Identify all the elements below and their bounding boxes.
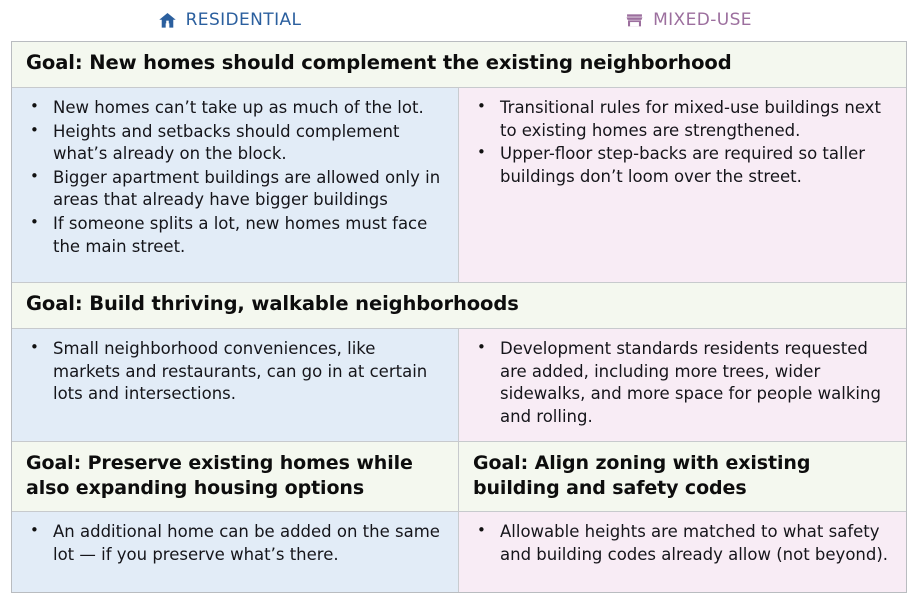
content-cell-residential: New homes can’t take up as much of the l…: [12, 88, 459, 282]
bullet-list: An additional home can be added on the s…: [22, 521, 442, 566]
column-headers: RESIDENTIAL MIXED-USE: [0, 0, 918, 40]
column-header-residential-label: RESIDENTIAL: [186, 10, 302, 30]
list-item: Small neighborhood conveniences, like ma…: [22, 338, 442, 406]
goal-cell-mixeduse: Goal: Align zoning with existing buildin…: [459, 442, 906, 511]
content-cell-residential: Small neighborhood conveniences, like ma…: [12, 329, 459, 441]
goal-title: Goal: Align zoning with existing buildin…: [473, 451, 892, 500]
list-item: New homes can’t take up as much of the l…: [22, 97, 442, 120]
goal-cell: Goal: New homes should complement the ex…: [12, 42, 906, 87]
list-item: Allowable heights are matched to what sa…: [469, 521, 890, 566]
content-cell-mixeduse: Allowable heights are matched to what sa…: [459, 512, 906, 592]
bullet-list: Small neighborhood conveniences, like ma…: [22, 338, 442, 406]
goal-title: Goal: Build thriving, walkable neighborh…: [26, 292, 892, 317]
content-cell-residential: An additional home can be added on the s…: [12, 512, 459, 592]
list-item: If someone splits a lot, new homes must …: [22, 213, 442, 258]
list-item: Bigger apartment buildings are allowed o…: [22, 167, 442, 212]
column-header-mixeduse: MIXED-USE: [459, 10, 918, 30]
content-row: Small neighborhood conveniences, like ma…: [12, 329, 906, 442]
list-item: An additional home can be added on the s…: [22, 521, 442, 566]
column-header-residential: RESIDENTIAL: [0, 10, 459, 30]
goals-matrix-table: Goal: New homes should complement the ex…: [11, 41, 907, 593]
storefront-icon: [625, 11, 644, 30]
goal-cell-residential: Goal: Preserve existing homes while also…: [12, 442, 459, 511]
content-row: New homes can’t take up as much of the l…: [12, 88, 906, 283]
column-header-mixeduse-label: MIXED-USE: [653, 10, 752, 30]
goal-header-row-split: Goal: Preserve existing homes while also…: [12, 442, 906, 512]
comparison-matrix-page: RESIDENTIAL MIXED-USE Goal: New homes sh…: [0, 0, 918, 594]
bullet-list: New homes can’t take up as much of the l…: [22, 97, 442, 258]
goal-title: Goal: Preserve existing homes while also…: [26, 451, 444, 500]
list-item: Development standards residents requeste…: [469, 338, 890, 428]
content-cell-mixeduse: Development standards residents requeste…: [459, 329, 906, 441]
goal-header-row: Goal: Build thriving, walkable neighborh…: [12, 283, 906, 329]
goal-cell: Goal: Build thriving, walkable neighborh…: [12, 283, 906, 328]
content-cell-mixeduse: Transitional rules for mixed-use buildin…: [459, 88, 906, 282]
list-item: Heights and setbacks should complement w…: [22, 121, 442, 166]
list-item: Upper-floor step-backs are required so t…: [469, 143, 890, 188]
bullet-list: Development standards residents requeste…: [469, 338, 890, 428]
content-row: An additional home can be added on the s…: [12, 512, 906, 592]
bullet-list: Allowable heights are matched to what sa…: [469, 521, 890, 566]
goal-title: Goal: New homes should complement the ex…: [26, 51, 892, 76]
bullet-list: Transitional rules for mixed-use buildin…: [469, 97, 890, 188]
list-item: Transitional rules for mixed-use buildin…: [469, 97, 890, 142]
house-icon: [158, 11, 177, 30]
goal-header-row: Goal: New homes should complement the ex…: [12, 42, 906, 88]
